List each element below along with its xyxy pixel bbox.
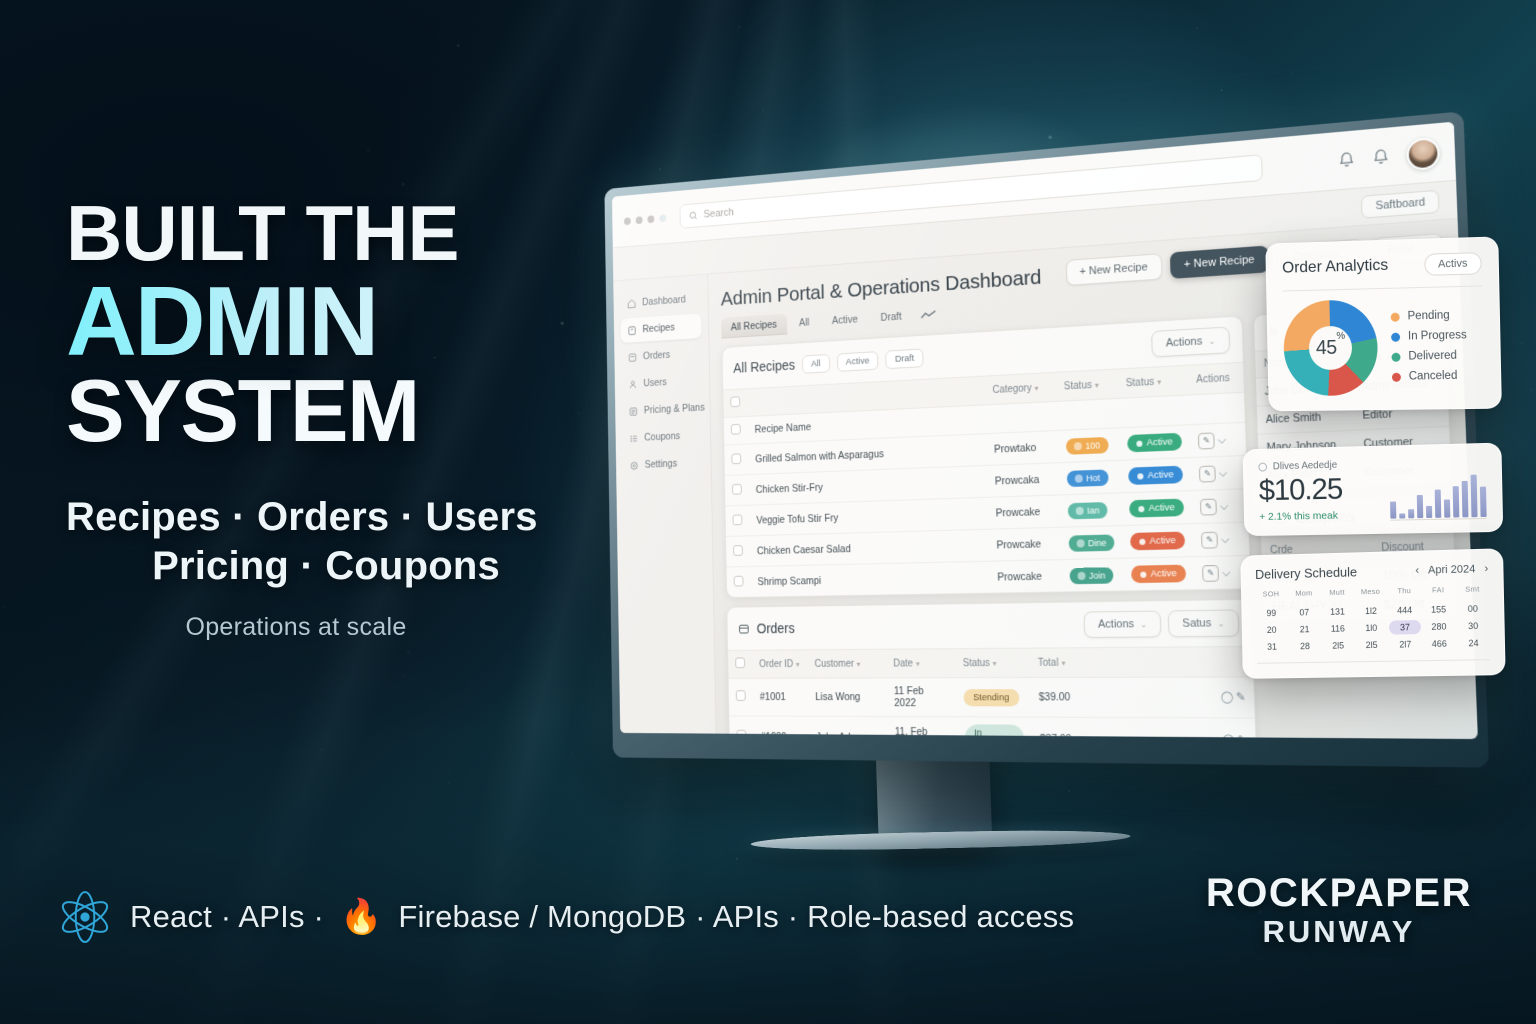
new-recipe-ghost-button[interactable]: + New Recipe	[1066, 253, 1163, 286]
calendar-month-label: Apri 2024	[1428, 563, 1476, 576]
order-id-cell: #1000	[753, 716, 809, 739]
calendar-day[interactable]: 28	[1289, 639, 1320, 653]
recipe-status-cell: Active	[1120, 458, 1191, 493]
tab-draft[interactable]: Draft	[870, 305, 912, 329]
shell-pill-button[interactable]: Saftboard	[1361, 189, 1439, 218]
select-all-checkbox[interactable]	[735, 658, 745, 669]
revenue-left: Dlives Aededje $10.25 + 2.1% this meak	[1258, 460, 1343, 523]
row-checkbox-cell[interactable]	[724, 444, 748, 475]
order-analytics-chart: 45% PendingIn ProgressDeliveredCanceled	[1283, 297, 1485, 397]
order-analytics-status-badge[interactable]: Activs	[1424, 252, 1482, 276]
stack-text-before: React · APIs ·	[130, 899, 324, 935]
divider	[1257, 659, 1490, 664]
orders-card: Orders Actions ⌄ Satus ⌄	[726, 599, 1258, 739]
sort-icon: ▾	[993, 658, 997, 667]
sort-icon: ▾	[857, 659, 861, 668]
legend-label: Pending	[1407, 309, 1449, 322]
sidebar-label-pricing: Pricing & Plans	[644, 402, 705, 416]
revenue-row: Dlives Aededje $10.25 + 2.1% this meak	[1258, 456, 1486, 523]
row-checkbox[interactable]	[734, 575, 744, 586]
brand-logo: ROCKPAPER RUNWAY	[1206, 871, 1472, 950]
legend-item: Pending	[1391, 309, 1467, 323]
coupons-icon	[629, 433, 638, 444]
orders-status-dropdown[interactable]: Satus ⌄	[1168, 609, 1240, 637]
edit-icon[interactable]: ✎	[1201, 531, 1218, 548]
revenue-amount: $10.25	[1259, 473, 1343, 508]
recipe-status-cell: Active	[1119, 425, 1190, 461]
recipe-actions-cell[interactable]: ✎ ⌵	[1190, 455, 1247, 490]
legend-item: In Progress	[1391, 329, 1467, 343]
calendar-prev-button[interactable]: ‹	[1415, 564, 1419, 576]
divider	[1283, 285, 1482, 291]
react-icon	[56, 888, 114, 946]
orders-col-total-label: Total	[1038, 657, 1059, 668]
orders-col-date-label: Date	[893, 658, 913, 669]
revenue-label: Dlives Aededje	[1273, 460, 1338, 472]
bell-icon[interactable]: ⌵	[1219, 499, 1228, 512]
orders-col-id-label: Order ID	[759, 659, 793, 670]
calendar-next-button[interactable]: ›	[1484, 562, 1488, 574]
order-id-cell: #1001	[752, 678, 808, 716]
recipes-chip-all[interactable]: All	[802, 354, 830, 374]
donut-center-value: 45%	[1316, 336, 1345, 359]
sort-icon: ▾	[796, 660, 800, 669]
user-avatar[interactable]	[1406, 136, 1440, 170]
window-dot-3[interactable]	[647, 215, 654, 223]
recipes-col-category-label: Category	[992, 383, 1031, 396]
calendar-day[interactable]: 20	[1256, 623, 1287, 637]
window-dot-1[interactable]	[624, 217, 631, 225]
row-checkbox[interactable]	[736, 690, 746, 701]
calendar-day[interactable]: 2l5	[1322, 638, 1354, 653]
recipe-actions-cell[interactable]: ✎ ⌵	[1189, 422, 1246, 457]
recipe-icon	[627, 325, 636, 336]
sparkline-bar	[1390, 502, 1396, 519]
sidebar-label-users: Users	[643, 377, 666, 390]
calendar-dow: Thu	[1388, 586, 1420, 596]
table-row[interactable]: #1000John Adams11. Feb 2022In Progress$3…	[729, 716, 1256, 739]
order-analytics-legend: PendingIn ProgressDeliveredCanceled	[1391, 309, 1468, 383]
chevron-down-icon: ⌄	[1140, 620, 1147, 629]
recipes-card-actions: Actions ⌄	[1151, 326, 1230, 357]
revenue-sparkline-chart	[1390, 474, 1487, 520]
topbar-icons	[1337, 136, 1440, 176]
sidebar-label-coupons: Coupons	[644, 430, 680, 443]
sidebar-label-settings: Settings	[645, 458, 677, 471]
search-icon	[689, 210, 698, 220]
sidebar-item-users[interactable]: Users	[621, 368, 702, 397]
bell-icon[interactable]: ⌵	[1218, 466, 1227, 479]
orders-col-status[interactable]: Status▾	[955, 649, 1031, 678]
calendar-day[interactable]: 1l0	[1355, 621, 1387, 636]
sidebar-label-recipes: Recipes	[642, 322, 674, 335]
legend-item: Canceled	[1392, 370, 1468, 383]
sparkline-bar	[1453, 486, 1460, 518]
sidebar-label-dashboard: Dashboard	[642, 294, 686, 308]
notification-bell-icon-1[interactable]	[1338, 150, 1356, 169]
calendar-dow: Mutt	[1321, 587, 1353, 597]
order-analytics-header: Order Analytics Activs	[1282, 252, 1482, 280]
recipes-chip-draft[interactable]: Draft	[886, 348, 924, 369]
tech-stack-bar: React · APIs · 🔥 Firebase / MongoDB · AP…	[56, 888, 1074, 946]
row-checkbox-cell[interactable]	[729, 678, 753, 716]
calendar-day-headers: SOHMomMuttMesoThuFAISmt	[1255, 584, 1488, 599]
recipes-card: All Recipes All Active Draft Actions ⌄	[722, 315, 1252, 598]
orders-col-customer-label: Customer	[814, 658, 854, 669]
sparkline-bar	[1399, 513, 1405, 518]
tab-active[interactable]: Active	[822, 308, 868, 332]
hero-subtitle-row-1: Recipes · Orders · Users	[66, 495, 538, 539]
recipe-tag-cell: Ian	[1059, 493, 1122, 527]
row-checkbox[interactable]	[733, 514, 743, 525]
legend-label: Canceled	[1409, 370, 1458, 383]
edit-icon[interactable]: ✎	[1200, 498, 1217, 515]
sparkline-bar	[1417, 495, 1423, 518]
delivery-schedule-card: Delivery Schedule ‹ Apri 2024 › SOHMomMu…	[1240, 548, 1505, 679]
row-checkbox[interactable]	[737, 730, 747, 739]
orders-table-header-row: Order ID▾ Customer▾ Date▾ Status▾ Total▾	[728, 647, 1253, 678]
edit-icon[interactable]: ✎	[1236, 691, 1246, 704]
recipe-tag-cell	[1057, 398, 1119, 430]
sidebar-item-settings[interactable]: Settings	[623, 450, 704, 478]
sort-icon: ▾	[1061, 658, 1065, 667]
delivery-schedule-header: Delivery Schedule ‹ Apri 2024 ›	[1255, 561, 1488, 582]
sort-icon: ▾	[1157, 377, 1161, 386]
sort-icon: ▾	[1095, 380, 1099, 389]
recipes-table-body: Recipe NameGrilled Salmon with Asparagus…	[724, 392, 1251, 597]
order-status-cell: In Progress	[957, 717, 1033, 739]
users-icon	[628, 379, 637, 390]
home-icon	[627, 298, 636, 309]
row-checkbox-cell[interactable]	[727, 567, 751, 598]
donut-center: 45%	[1309, 326, 1353, 371]
calendar-day[interactable]: 444	[1389, 603, 1421, 618]
radio-icon[interactable]	[1258, 463, 1267, 472]
trend-icon	[920, 309, 937, 320]
recipe-tag-cell: Join	[1061, 558, 1124, 591]
orders-actions-dropdown[interactable]: Actions ⌄	[1084, 610, 1162, 638]
edit-icon[interactable]: ✎	[1199, 465, 1216, 482]
new-recipe-button[interactable]: + New Recipe	[1169, 245, 1269, 279]
sidebar-item-pricing[interactable]: Pricing & Plans	[622, 395, 703, 423]
recipe-status-cell: Active	[1122, 524, 1194, 559]
recipe-status-cell: Active	[1121, 491, 1193, 526]
firebase-icon: 🔥	[340, 900, 382, 934]
notification-bell-icon-2[interactable]	[1372, 147, 1390, 166]
order-actions-cell[interactable]: ◯ ✎	[1212, 677, 1255, 718]
legend-swatch	[1391, 312, 1400, 321]
sparkline-bar	[1435, 489, 1442, 518]
row-checkbox[interactable]	[732, 483, 742, 494]
recipe-name-cell: Shrimp Scampi	[750, 561, 990, 597]
row-checkbox-cell[interactable]	[724, 416, 748, 445]
app-sidebar: Dashboard Recipes Orders Users	[613, 274, 716, 733]
orders-table: Order ID▾ Customer▾ Date▾ Status▾ Total▾	[728, 647, 1257, 739]
window-dots	[624, 214, 666, 225]
recipe-tag-cell: 100	[1057, 428, 1120, 463]
edit-icon[interactable]: ✎	[1198, 432, 1215, 449]
sparkline-bar	[1444, 500, 1450, 518]
calendar-day[interactable]: 99	[1256, 606, 1287, 621]
calendar-day[interactable]: 131	[1322, 604, 1354, 619]
sparkline-bar	[1426, 506, 1432, 518]
order-customer-cell: Lisa Wong	[808, 678, 887, 717]
orders-col-customer[interactable]: Customer▾	[807, 650, 886, 678]
orders-card-actions: Actions ⌄ Satus ⌄	[1084, 609, 1240, 638]
sparkline-bar	[1462, 481, 1469, 517]
calendar-days-grid: 99071311l24441550020211161l0372803031282…	[1256, 601, 1490, 654]
brand-logo-line-1: ROCKPAPER	[1206, 871, 1472, 916]
order-status-cell: Stending	[956, 678, 1032, 718]
calendar-dow: SOH	[1255, 589, 1286, 599]
recipes-actions-label: Actions	[1166, 335, 1203, 349]
order-analytics-card: Order Analytics Activs 45% PendingIn Pro…	[1265, 236, 1502, 411]
legend-label: Delivered	[1408, 350, 1457, 363]
row-checkbox-cell[interactable]	[725, 505, 749, 536]
sidebar-item-recipes[interactable]: Recipes	[621, 313, 702, 343]
edit-icon[interactable]: ✎	[1237, 734, 1247, 739]
recipes-col-actions: Actions	[1188, 363, 1244, 395]
sort-icon: ▾	[916, 659, 920, 668]
orders-actions-label: Actions	[1098, 618, 1134, 631]
recipe-category-cell: Prowtako	[986, 430, 1058, 465]
sidebar-item-coupons[interactable]: Coupons	[622, 423, 703, 451]
delivery-schedule-title: Delivery Schedule	[1255, 564, 1357, 582]
recipe-category-cell	[985, 401, 1057, 433]
calendar-day[interactable]: 2l5	[1356, 638, 1388, 653]
order-total-cell: $37.00	[1032, 717, 1215, 739]
recipes-col-status-2-label: Status	[1126, 376, 1155, 389]
sparkline-bar	[1471, 475, 1478, 518]
settings-icon	[629, 460, 638, 471]
search-placeholder-text: Search	[704, 206, 734, 220]
calendar-dow: Meso	[1355, 587, 1387, 597]
window-dot-4[interactable]	[659, 214, 666, 222]
recipe-tag-cell: Hot	[1058, 460, 1121, 495]
order-status-donut-chart: 45%	[1283, 299, 1379, 396]
calendar-day[interactable]: 2l7	[1389, 637, 1421, 652]
legend-item: Delivered	[1391, 349, 1467, 362]
edit-icon[interactable]: ✎	[1202, 564, 1219, 581]
orders-card-title: Orders	[757, 620, 795, 636]
row-checkbox[interactable]	[733, 545, 743, 556]
row-checkbox-cell[interactable]	[726, 536, 750, 567]
legend-label: In Progress	[1408, 329, 1467, 342]
calendar-dow: Mom	[1288, 588, 1319, 598]
order-customer-cell: John Adams	[808, 716, 888, 739]
sort-icon: ▾	[1034, 383, 1038, 392]
recipe-category-cell: Prowcake	[989, 560, 1062, 593]
sparkline-bar	[1408, 509, 1414, 519]
calendar-day[interactable]: 30	[1457, 619, 1490, 634]
sidebar-item-dashboard[interactable]: Dashboard	[620, 286, 701, 316]
order-date-cell: 11 Feb 2022	[886, 678, 956, 717]
recipes-col-status-1-label: Status	[1064, 379, 1092, 391]
calendar-day[interactable]: 116	[1322, 621, 1354, 636]
calendar-day[interactable]: 280	[1423, 619, 1455, 634]
revenue-card: Dlives Aededje $10.25 + 2.1% this meak	[1243, 443, 1504, 536]
recipes-chip-active[interactable]: Active	[837, 351, 879, 372]
select-all-checkbox[interactable]	[730, 396, 740, 407]
calendar-day[interactable]: 21	[1289, 622, 1320, 637]
chevron-down-icon: ⌄	[1217, 619, 1224, 628]
orders-icon	[628, 352, 637, 363]
recipe-category-cell: Prowcaka	[987, 463, 1059, 498]
legend-swatch	[1392, 372, 1401, 381]
recipes-table: Category▾ Status▾ Status▾ Actions Recipe…	[723, 363, 1250, 597]
calendar-day[interactable]: 37	[1389, 620, 1421, 635]
calendar-dow: Smt	[1456, 584, 1489, 594]
sidebar-item-orders[interactable]: Orders	[621, 341, 702, 370]
brand-logo-line-2: RUNWAY	[1206, 914, 1472, 950]
calendar-day[interactable]: 155	[1422, 602, 1454, 617]
row-checkbox[interactable]	[731, 424, 741, 435]
more-icon[interactable]: ◯	[1220, 691, 1233, 704]
recipes-col-status-1[interactable]: Status▾	[1056, 370, 1118, 402]
chevron-down-icon: ⌄	[1208, 337, 1215, 347]
recipes-select-all-header[interactable]	[723, 389, 747, 417]
calendar-dow: FAI	[1422, 585, 1454, 595]
orders-status-label: Satus	[1182, 617, 1211, 630]
orders-col-date[interactable]: Date▾	[886, 649, 956, 678]
legend-swatch	[1391, 332, 1400, 341]
recipe-category-cell: Prowcake	[989, 527, 1061, 561]
tab-all[interactable]: All	[789, 311, 819, 334]
window-dot-2[interactable]	[636, 216, 643, 224]
calendar-day[interactable]: 466	[1423, 636, 1455, 651]
recipe-actions-cell[interactable]: ✎ ⌵	[1192, 489, 1249, 524]
orders-panel-icon	[738, 622, 750, 635]
recipe-status-cell: Active	[1123, 557, 1195, 591]
legend-swatch	[1391, 352, 1400, 361]
row-checkbox[interactable]	[731, 453, 741, 464]
recipe-name-cell: Chicken Caesar Salad	[750, 529, 990, 566]
recipes-actions-dropdown[interactable]: Actions ⌄	[1151, 326, 1230, 357]
order-analytics-title: Order Analytics	[1282, 257, 1388, 278]
recipe-tag-cell: Dine	[1060, 526, 1123, 560]
orders-col-id[interactable]: Order ID▾	[752, 650, 808, 678]
pricing-icon	[629, 406, 638, 417]
order-date-cell: 11. Feb 2022	[887, 716, 957, 739]
recipes-col-status-2[interactable]: Status▾	[1117, 366, 1188, 399]
table-row[interactable]: #1001Lisa Wong11 Feb 2022Stending$39.00◯…	[729, 677, 1255, 718]
sparkline-bar	[1480, 486, 1487, 517]
sidebar-label-orders: Orders	[643, 349, 670, 362]
order-total-cell: $39.00	[1030, 677, 1213, 718]
row-checkbox-cell[interactable]	[729, 716, 754, 739]
revenue-label-row: Dlives Aededje	[1258, 460, 1342, 473]
row-checkbox-cell[interactable]	[725, 475, 749, 506]
bell-icon[interactable]: ⌵	[1220, 532, 1229, 545]
recipe-actions-cell[interactable]: ✎ ⌵	[1193, 522, 1250, 557]
calendar-day[interactable]: 07	[1289, 605, 1320, 620]
recipe-category-cell: Prowcake	[988, 495, 1060, 529]
recipe-actions-cell[interactable]	[1189, 392, 1245, 424]
calendar-day[interactable]: 24	[1457, 636, 1490, 651]
calendar-day[interactable]: 1l2	[1355, 604, 1387, 619]
recipes-col-category[interactable]: Category▾	[985, 373, 1057, 405]
orders-table-body: #1001Lisa Wong11 Feb 2022Stending$39.00◯…	[729, 677, 1258, 739]
content-main-column: All Recipes All Active Draft Actions ⌄	[721, 306, 1258, 739]
stack-text-after: Firebase / MongoDB · APIs · Role-based a…	[398, 899, 1074, 935]
orders-select-all-header[interactable]	[728, 651, 752, 679]
revenue-delta: + 2.1% this meak	[1259, 510, 1343, 523]
orders-col-status-label: Status	[963, 658, 990, 669]
bell-icon[interactable]: ⌵	[1217, 433, 1226, 446]
calendar-day[interactable]: 00	[1457, 601, 1490, 616]
bell-icon[interactable]: ⌵	[1222, 566, 1231, 579]
calendar-day[interactable]: 31	[1256, 640, 1287, 654]
calendar-nav: ‹ Apri 2024 ›	[1415, 562, 1488, 576]
orders-card-header: Orders Actions ⌄ Satus ⌄	[727, 600, 1252, 651]
more-icon[interactable]: ◯	[1222, 734, 1235, 739]
orders-col-total[interactable]: Total▾	[1030, 647, 1212, 677]
order-actions-cell[interactable]: ◯ ✎	[1213, 718, 1256, 739]
recipe-status-cell	[1118, 395, 1189, 428]
recipes-card-title: All Recipes	[733, 357, 795, 376]
